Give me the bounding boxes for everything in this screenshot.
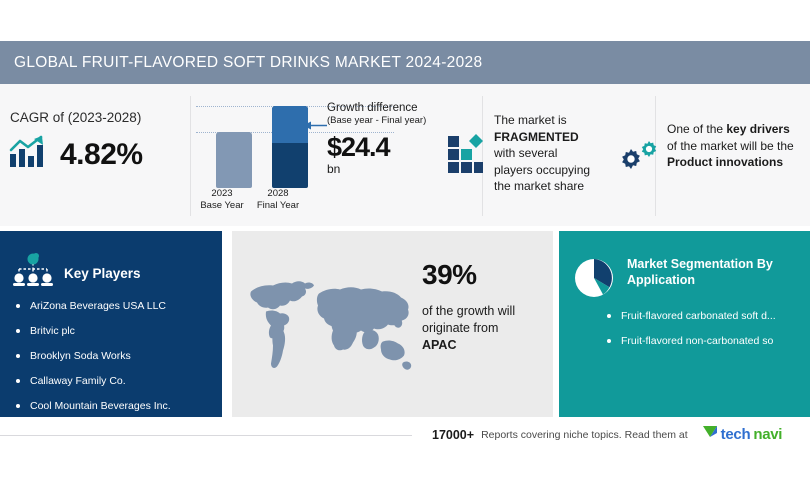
- footer: 17000+ Reports covering niche topics. Re…: [0, 417, 810, 457]
- list-item: Fruit-flavored non-carbonated so: [607, 334, 776, 348]
- key-driver-line-2: of the market will be the: [667, 138, 810, 155]
- reports-count: 17000+: [432, 428, 474, 442]
- growth-difference-sublabel: (Base year - Final year): [327, 115, 462, 127]
- bar-base-year: [216, 132, 252, 188]
- arrow-left-icon: [303, 117, 327, 126]
- bar-chart-growth-icon: [8, 135, 48, 174]
- growth-bar-chart: 2023 Base Year 2028 Final Year: [196, 96, 326, 218]
- bar-label-final: 2028 Final Year: [246, 188, 310, 211]
- infographic-root: GLOBAL FRUIT-FLAVORED SOFT DRINKS MARKET…: [0, 0, 810, 480]
- bar-label-base: 2023 Base Year: [190, 188, 254, 211]
- org-chart-icon: [12, 253, 54, 294]
- growth-difference-label: Growth difference: [327, 101, 462, 115]
- list-item: Cool Mountain Beverages Inc.: [14, 399, 171, 413]
- title-bar: GLOBAL FRUIT-FLAVORED SOFT DRINKS MARKET…: [0, 41, 810, 84]
- list-item: AriZona Beverages USA LLC: [14, 299, 171, 313]
- key-players-panel: Key Players AriZona Beverages USA LLC Br…: [0, 231, 222, 417]
- key-players-list: AriZona Beverages USA LLC Britvic plc Br…: [14, 299, 171, 424]
- gears-icon: [619, 137, 661, 178]
- market-segmentation-panel: Market Segmentation By Application Fruit…: [559, 231, 810, 417]
- technavio-logo[interactable]: technavi: [703, 425, 782, 444]
- footer-text: Reports covering niche topics. Read them…: [481, 429, 688, 441]
- segmentation-header: Market Segmentation By Application: [573, 257, 807, 304]
- region-growth-panel: 39% of the growth will originate from AP…: [232, 231, 553, 417]
- key-driver-line-3: Product innovations: [667, 154, 810, 171]
- logo-text-navi: navi: [753, 426, 782, 443]
- cagr-label: CAGR of (2023-2028): [8, 110, 198, 125]
- fragmented-squares-icon: [438, 134, 484, 181]
- logo-text-tech: tech: [721, 426, 751, 443]
- world-map-icon: [244, 269, 424, 379]
- cagr-block: CAGR of (2023-2028) 4.82%: [8, 110, 198, 174]
- bar-labels: 2023 Base Year 2028 Final Year: [196, 188, 326, 218]
- segmentation-list: Fruit-flavored carbonated soft d... Frui…: [607, 309, 776, 359]
- list-item: Brooklyn Soda Works: [14, 349, 171, 363]
- cagr-value: 4.82%: [60, 138, 143, 172]
- apac-percentage: 39%: [422, 259, 552, 291]
- market-fragmented-block: The market is FRAGMENTED with several pl…: [494, 112, 614, 195]
- apac-description: of the growth will originate from APAC: [422, 303, 552, 354]
- pie-chart-icon: [573, 257, 615, 304]
- page-title: GLOBAL FRUIT-FLAVORED SOFT DRINKS MARKET…: [0, 54, 482, 72]
- key-driver-line-1: One of the key drivers: [667, 121, 810, 138]
- key-players-title: Key Players: [64, 266, 141, 281]
- key-players-header: Key Players: [12, 253, 141, 294]
- key-driver-block: One of the key drivers of the market wil…: [667, 121, 810, 171]
- fragmented-text: The market is FRAGMENTED with several pl…: [494, 112, 614, 195]
- list-item: Britvic plc: [14, 324, 171, 338]
- list-item: Callaway Family Co.: [14, 374, 171, 388]
- segmentation-title: Market Segmentation By Application: [627, 257, 807, 288]
- footer-divider: [0, 435, 412, 436]
- technavio-triangle-icon: [703, 425, 718, 444]
- apac-growth-callout: 39% of the growth will originate from AP…: [422, 259, 552, 354]
- footer-content: 17000+ Reports covering niche topics. Re…: [432, 425, 782, 444]
- list-item: Fruit-flavored carbonated soft d...: [607, 309, 776, 323]
